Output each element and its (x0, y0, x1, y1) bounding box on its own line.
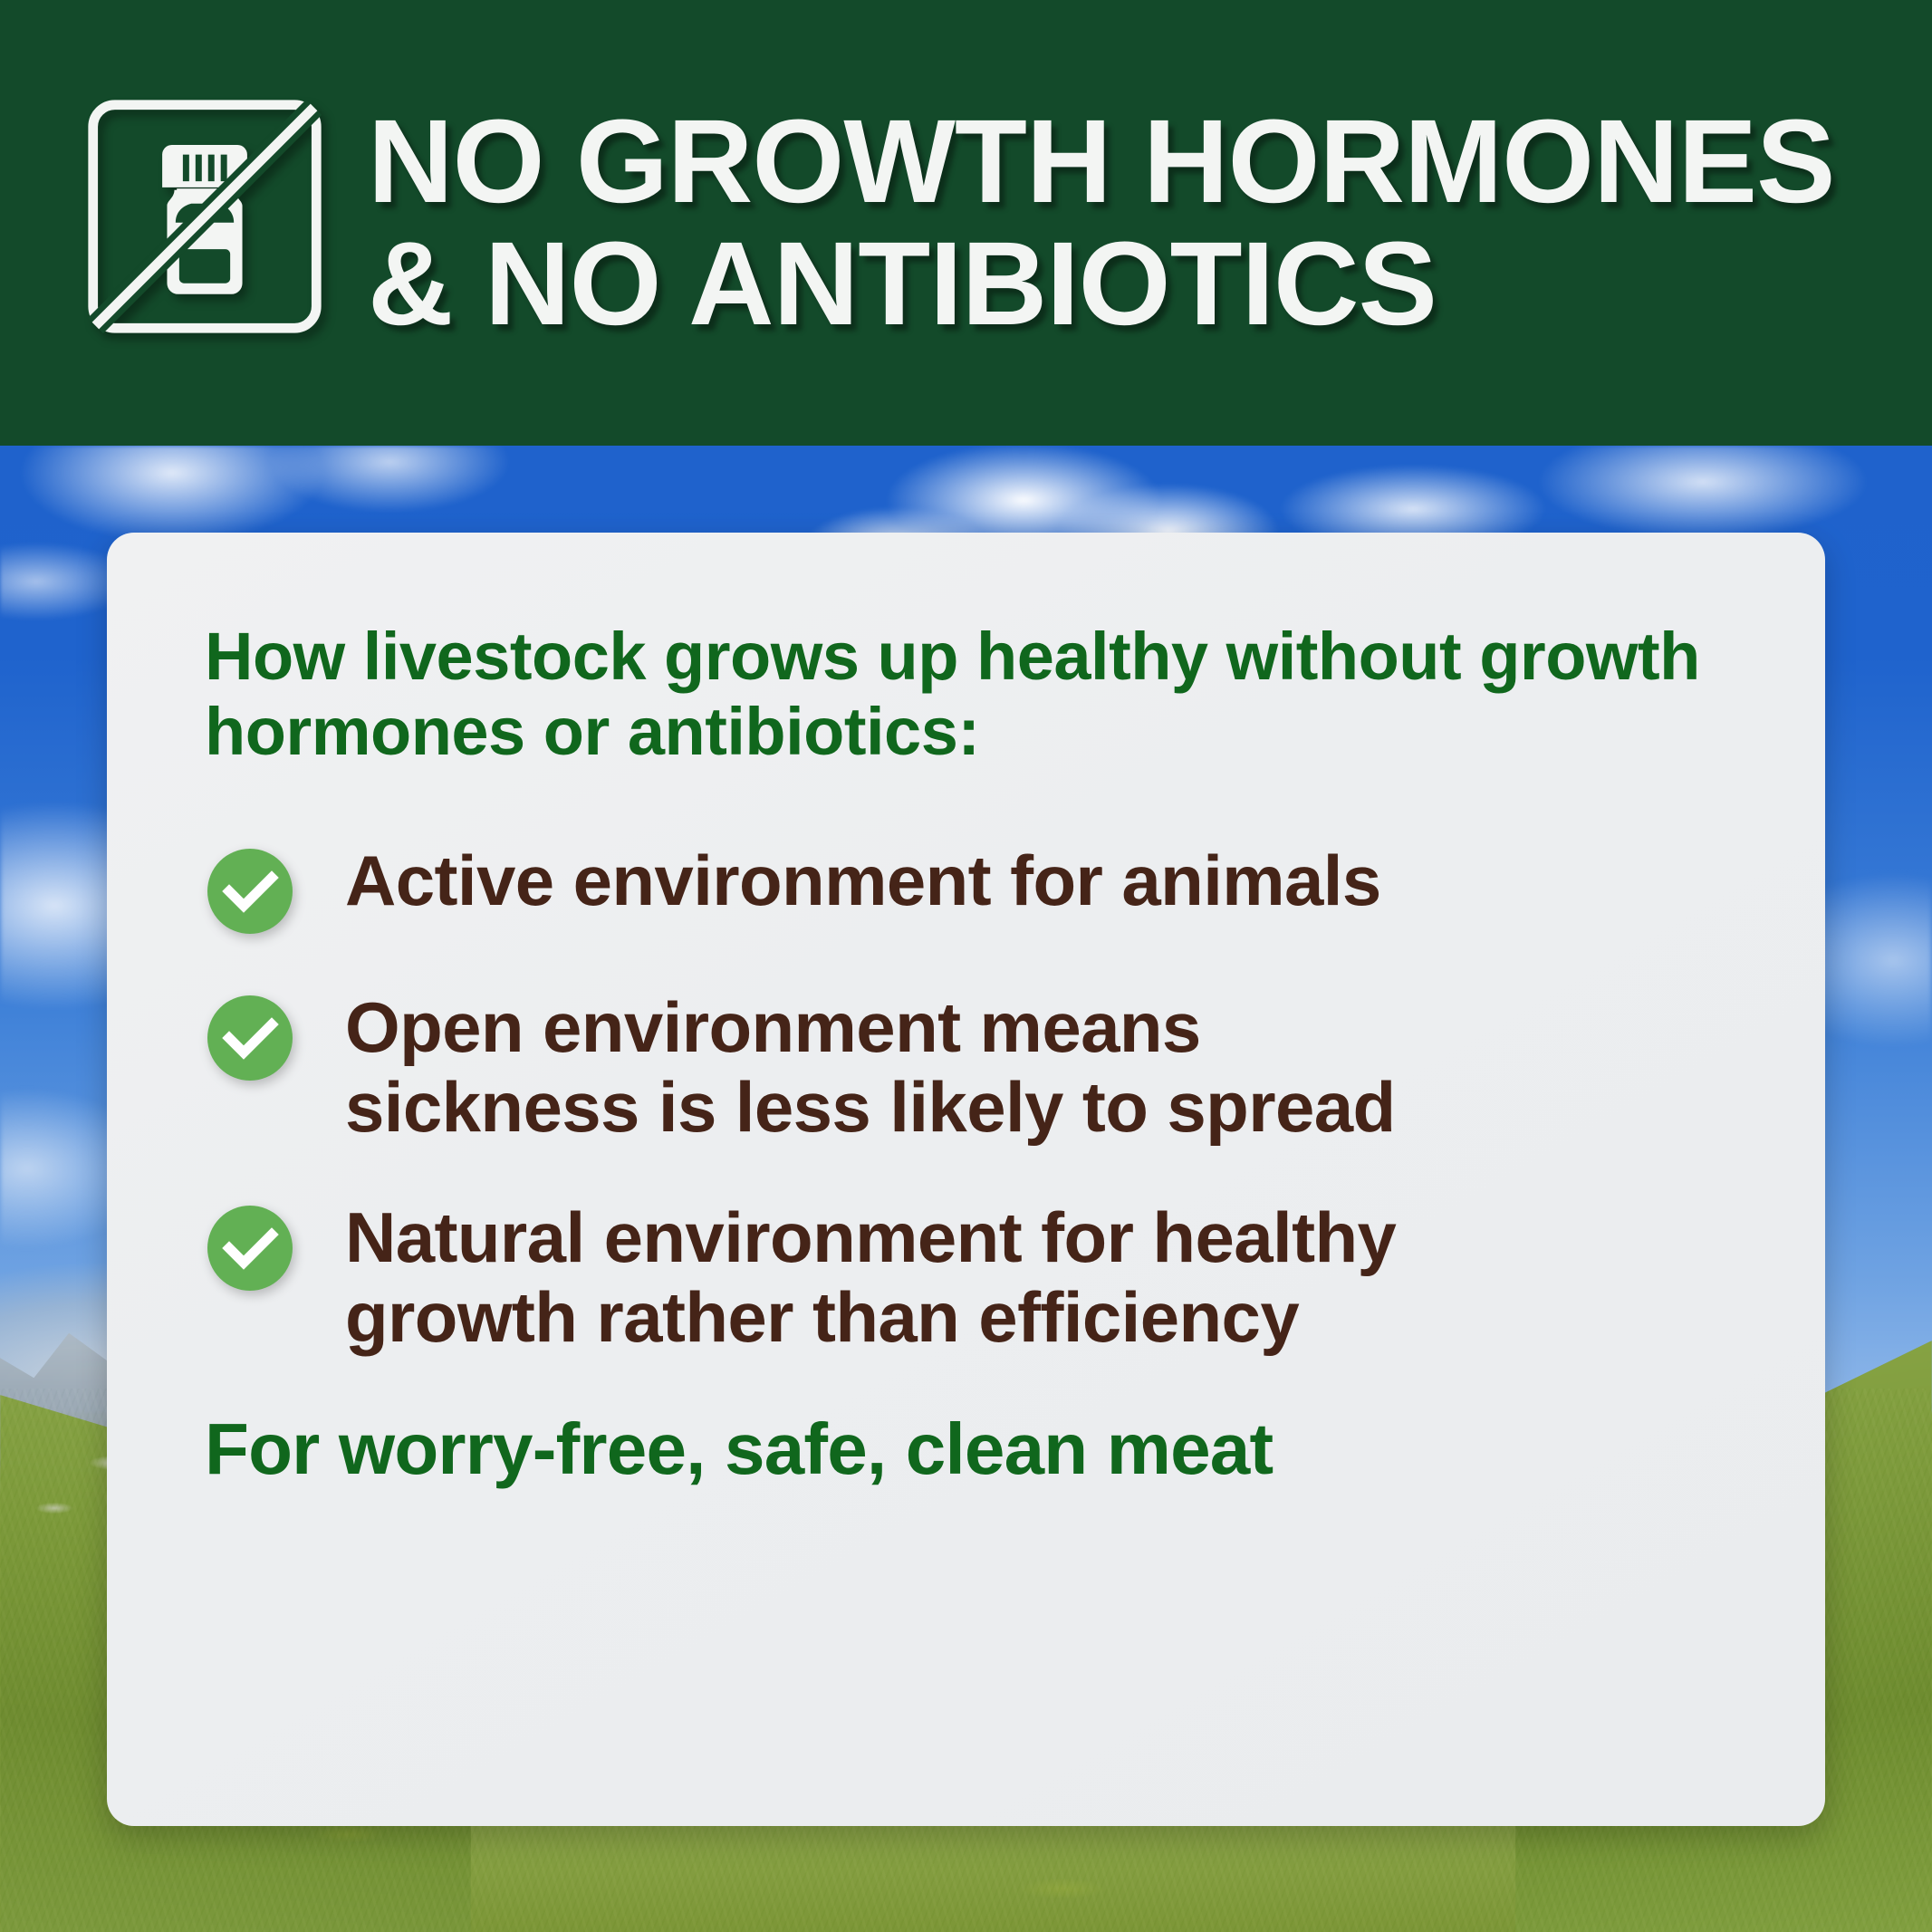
card-heading: How livestock grows up healthy without g… (205, 620, 1708, 770)
card-footer-tagline: For worry-free, safe, clean meat (205, 1408, 1727, 1491)
no-medicine-bottle-icon (83, 95, 326, 338)
check-circle-icon (205, 1203, 295, 1293)
benefits-list: Active environment for animals Open envi… (205, 841, 1727, 1358)
list-item-label: Natural environment for healthy growth r… (345, 1197, 1396, 1357)
check-circle-icon (205, 846, 295, 937)
list-item: Active environment for animals (205, 841, 1727, 937)
check-circle-icon (205, 993, 295, 1083)
list-item-label: Open environment means sickness is less … (345, 987, 1396, 1147)
info-card: How livestock grows up healthy without g… (107, 533, 1825, 1826)
header-banner: NO GROWTH HORMONES & NO ANTIBIOTICS (0, 0, 1932, 446)
poster-root: NO GROWTH HORMONES & NO ANTIBIOTICS How … (0, 0, 1932, 1932)
list-item: Open environment means sickness is less … (205, 987, 1727, 1147)
list-item-label: Active environment for animals (345, 841, 1381, 920)
page-title: NO GROWTH HORMONES & NO ANTIBIOTICS (368, 101, 1834, 345)
list-item: Natural environment for healthy growth r… (205, 1197, 1727, 1357)
